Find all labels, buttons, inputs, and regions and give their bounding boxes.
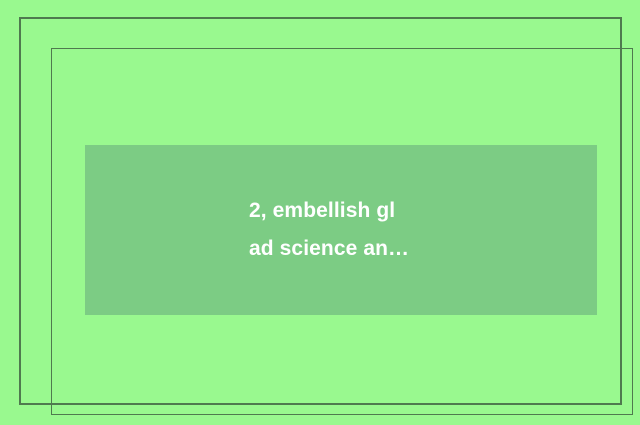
poster-outer-frame: 2, embellish gl ad science an… (19, 17, 622, 405)
panel-text-line-2: ad science an… (249, 230, 409, 268)
content-panel: 2, embellish gl ad science an… (85, 145, 597, 315)
panel-text-line-1: 2, embellish gl (249, 192, 395, 230)
